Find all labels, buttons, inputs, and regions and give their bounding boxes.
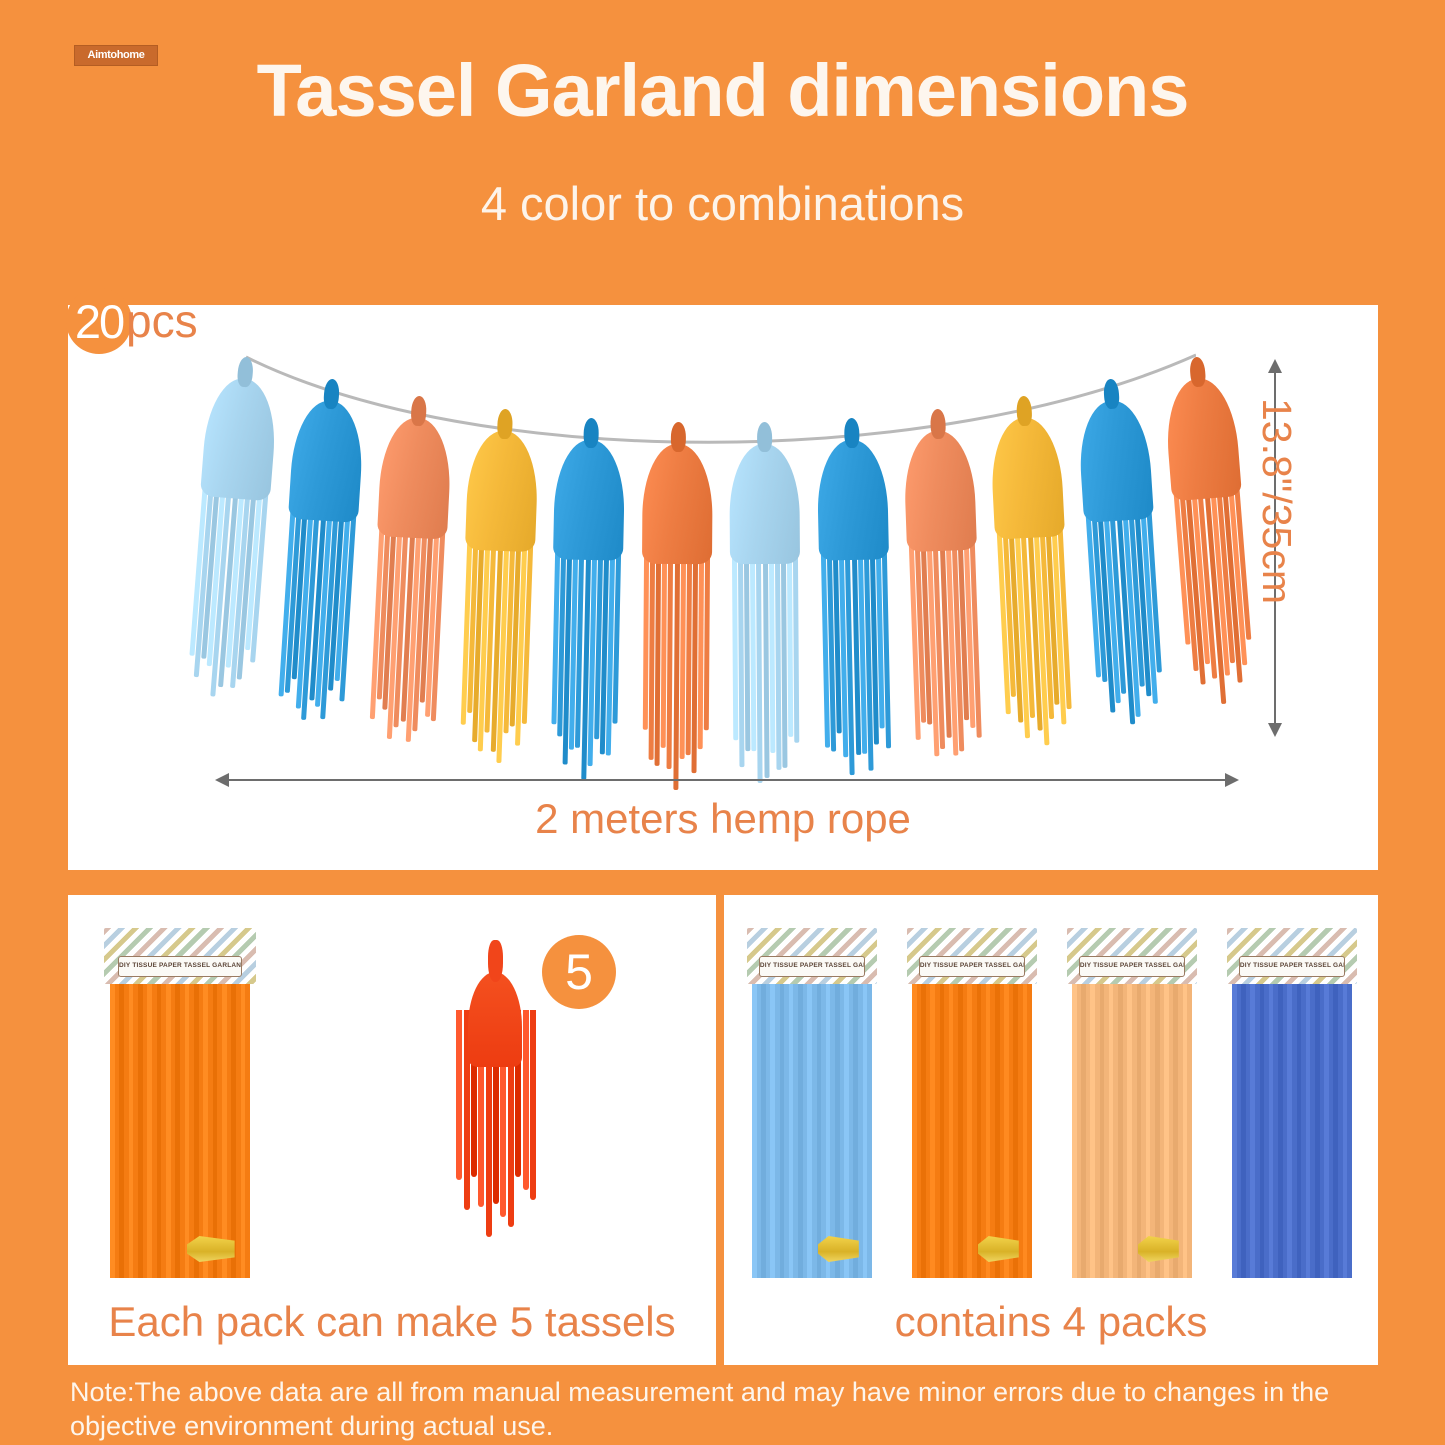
assembled-tassel — [430, 940, 560, 1280]
garland-tassel — [984, 394, 1062, 398]
pack-fringe — [752, 978, 872, 1278]
brand-logo-text: Aimtohome — [88, 49, 145, 61]
pack-header-label: DIY TISSUE PAPER TASSEL GARLAND — [118, 956, 242, 977]
left-panel-caption: Each pack can make 5 tassels — [68, 1298, 716, 1346]
height-dimension-label: 13.8"/35cm — [1253, 398, 1300, 604]
royal-blue-pack: DIY TISSUE PAPER TASSEL GARLAND — [1232, 928, 1352, 1278]
garland-tassel — [466, 408, 544, 411]
tassel-head — [642, 444, 713, 564]
tassel-knot — [1189, 356, 1206, 387]
tassel-head — [288, 398, 366, 522]
tassel-knot — [410, 396, 426, 427]
tassel-knot — [488, 940, 503, 982]
tassel-head — [1163, 376, 1242, 501]
garland-tassel — [552, 417, 630, 419]
pack-header-card: DIY TISSUE PAPER TASSEL GARLAND — [747, 928, 877, 984]
pack-fringe — [912, 978, 1032, 1278]
tassel-head — [1076, 398, 1154, 522]
tassel-head — [903, 430, 977, 552]
gold-tie — [978, 1236, 1019, 1262]
tassel-head — [553, 439, 626, 560]
pack-strand — [867, 978, 872, 1278]
pack-header-card: DIY TISSUE PAPER TASSEL GARLAND — [907, 928, 1037, 984]
pack-header-label: DIY TISSUE PAPER TASSEL GARLAND — [759, 956, 865, 977]
tassel-strand — [523, 1010, 529, 1190]
garland-tassel — [812, 417, 890, 419]
tassel-knot — [1103, 378, 1120, 409]
page-subtitle: 4 color to combinations — [0, 176, 1445, 231]
garland-illustration — [68, 305, 1378, 870]
width-dimension-arrow — [228, 779, 1226, 781]
tassel-strand — [456, 1010, 462, 1180]
pack-header-label: DIY TISSUE PAPER TASSEL GARLAND — [1239, 956, 1345, 977]
tassel-knot — [584, 418, 600, 448]
pack-header-card: DIY TISSUE PAPER TASSEL GARLAND — [1227, 928, 1357, 984]
garland-tassel — [639, 422, 717, 423]
garland-tassel — [207, 354, 285, 360]
pack-row: DIY TISSUE PAPER TASSEL GARLANDDIY TISSU… — [752, 928, 1352, 1278]
tassel-head — [465, 430, 539, 552]
pack-header-card: DIY TISSUE PAPER TASSEL GARLAND — [104, 928, 255, 984]
garland-tassel — [1071, 376, 1149, 381]
tassel-head — [468, 972, 522, 1067]
garland-tassel — [380, 394, 458, 398]
gold-tie — [818, 1236, 859, 1262]
gold-tie — [187, 1236, 235, 1262]
disclaimer-note: Note:The above data are all from manual … — [70, 1376, 1392, 1444]
garland-tassel — [725, 422, 803, 423]
pack-strand — [1027, 978, 1032, 1278]
width-dimension-label: 2 meters hemp rope — [68, 795, 1378, 843]
quantity-badge-5: 5 — [542, 935, 616, 1009]
pack-fringe — [110, 978, 250, 1278]
pack-fringe — [1072, 978, 1192, 1278]
pack-strand — [1347, 978, 1352, 1278]
peach-pack: DIY TISSUE PAPER TASSEL GARLAND — [1072, 928, 1192, 1278]
tassel-skirt — [727, 527, 805, 783]
tassel-head — [816, 439, 889, 560]
garland-tassel — [293, 376, 371, 381]
pack-fringe — [1232, 978, 1352, 1278]
tassel-knot — [930, 409, 946, 440]
garland-tassel — [1157, 354, 1235, 360]
tassel-skirt — [637, 527, 715, 790]
tassel-head — [200, 376, 279, 501]
pack-header-label: DIY TISSUE PAPER TASSEL GARLAND — [1079, 956, 1185, 977]
tassel-strand — [530, 1010, 536, 1200]
right-panel-caption: contains 4 packs — [724, 1298, 1378, 1346]
pack-header-card: DIY TISSUE PAPER TASSEL GARLAND — [1067, 928, 1197, 984]
tassel-skirt — [546, 522, 627, 780]
pack-header-label: DIY TISSUE PAPER TASSEL GARLAND — [919, 956, 1025, 977]
tassel-head — [377, 416, 453, 539]
brand-logo: Aimtohome — [74, 45, 158, 66]
tassel-knot — [844, 418, 860, 448]
tassel-knot — [1016, 396, 1032, 427]
quantity-badge-number: 20 — [66, 288, 132, 354]
tassel-knot — [497, 409, 513, 440]
page-title: Tassel Garland dimensions — [0, 52, 1445, 130]
tassel-knot — [757, 422, 772, 452]
gold-tie — [1138, 1236, 1179, 1262]
pack-strand — [245, 978, 250, 1278]
light-blue-pack: DIY TISSUE PAPER TASSEL GARLAND — [752, 928, 872, 1278]
orange-pack: DIY TISSUE PAPER TASSEL GARLAND — [912, 928, 1032, 1278]
single-pack-orange: DIY TISSUE PAPER TASSEL GARLAND — [110, 928, 250, 1278]
tassel-head — [989, 416, 1065, 539]
garland-tassel — [898, 408, 976, 411]
tassel-knot — [671, 422, 686, 452]
pack-strand — [1187, 978, 1192, 1278]
quantity-badge-20: 20 pcs — [66, 288, 198, 354]
quantity-badge-unit: pcs — [126, 288, 198, 354]
tassel-head — [729, 444, 800, 564]
